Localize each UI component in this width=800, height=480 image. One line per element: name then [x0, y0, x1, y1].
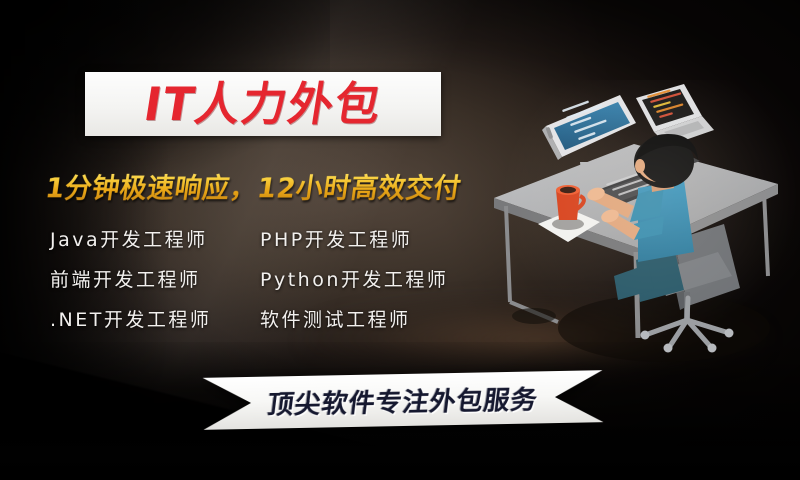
title-banner: IT人力外包	[85, 72, 441, 136]
role-list: Java开发工程师 PHP开发工程师 前端开发工程师 Python开发工程师 .…	[50, 218, 520, 338]
ribbon-text: 顶尖软件专注外包服务	[200, 370, 606, 430]
subtitle-text: 1分钟极速响应，12小时高效交付	[43, 166, 464, 205]
bottom-ribbon: 顶尖软件专注外包服务	[203, 370, 604, 430]
developer-at-desk-illustration	[488, 76, 800, 376]
role-item-php: PHP开发工程师	[260, 225, 510, 252]
subtitle-line: 1分钟极速响应，12小时高效交付	[46, 168, 526, 202]
background-bottom-black	[0, 426, 800, 480]
role-item-dotnet: .NET开发工程师	[50, 305, 260, 332]
role-item-frontend: 前端开发工程师	[50, 265, 260, 292]
role-row: 前端开发工程师 Python开发工程师	[50, 258, 520, 298]
role-item-python: Python开发工程师	[260, 265, 510, 292]
role-item-java: Java开发工程师	[50, 225, 260, 252]
poster-canvas: IT人力外包 1分钟极速响应，12小时高效交付 Java开发工程师 PHP开发工…	[0, 0, 800, 480]
role-item-qa: 软件测试工程师	[260, 305, 510, 332]
role-row: Java开发工程师 PHP开发工程师	[50, 218, 520, 258]
page-title: IT人力外包	[141, 81, 385, 127]
role-row: .NET开发工程师 软件测试工程师	[50, 298, 520, 338]
